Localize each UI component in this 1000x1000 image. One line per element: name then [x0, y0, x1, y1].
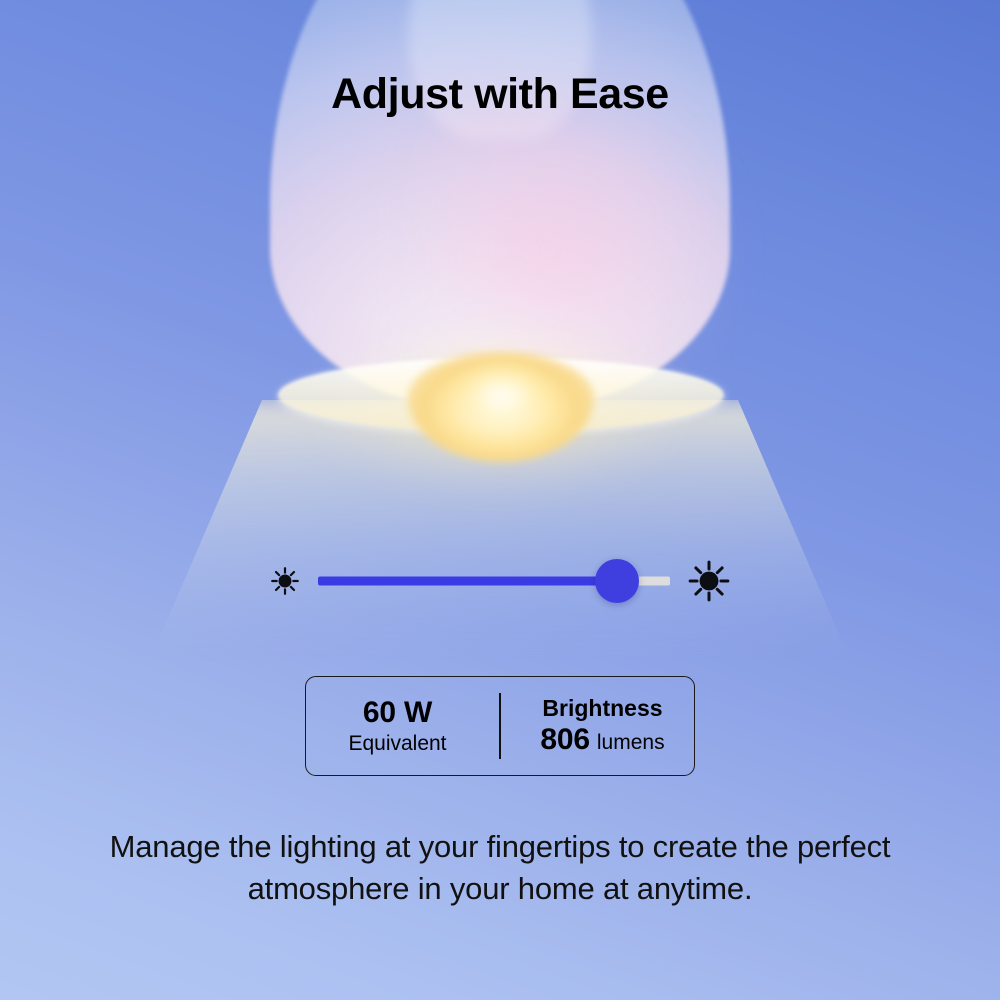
- page-description: Manage the lighting at your fingertips t…: [90, 826, 910, 909]
- bulb-rim: [278, 358, 724, 432]
- sun-small-icon: [268, 564, 302, 598]
- slider-track-fill: [318, 577, 617, 586]
- bulb-color-tint: [430, 110, 730, 390]
- brightness-label: Brightness: [542, 695, 662, 722]
- sun-large-icon: [686, 558, 732, 604]
- spec-brightness: Brightness 806 lumens: [501, 677, 694, 775]
- lumens-unit: lumens: [597, 731, 665, 755]
- promo-card: Adjust with Ease: [0, 0, 1000, 1000]
- light-cone: [150, 400, 850, 660]
- lumens-value: 806: [540, 723, 589, 757]
- wattage-value: 60 W: [363, 696, 432, 730]
- bulb-glow-inner: [408, 352, 594, 462]
- slider-thumb[interactable]: [595, 559, 639, 603]
- page-title: Adjust with Ease: [0, 70, 1000, 119]
- bulb-shade: [270, 0, 730, 410]
- spec-wattage: 60 W Equivalent: [306, 677, 499, 775]
- bulb-glow-halo: [300, 330, 700, 520]
- brightness-control: [268, 552, 732, 610]
- brightness-value-row: 806 lumens: [540, 723, 664, 757]
- spec-box: 60 W Equivalent Brightness 806 lumens: [305, 676, 695, 776]
- wattage-label: Equivalent: [348, 731, 446, 756]
- bulb-glow-core: [452, 362, 552, 432]
- brightness-slider[interactable]: [318, 566, 670, 596]
